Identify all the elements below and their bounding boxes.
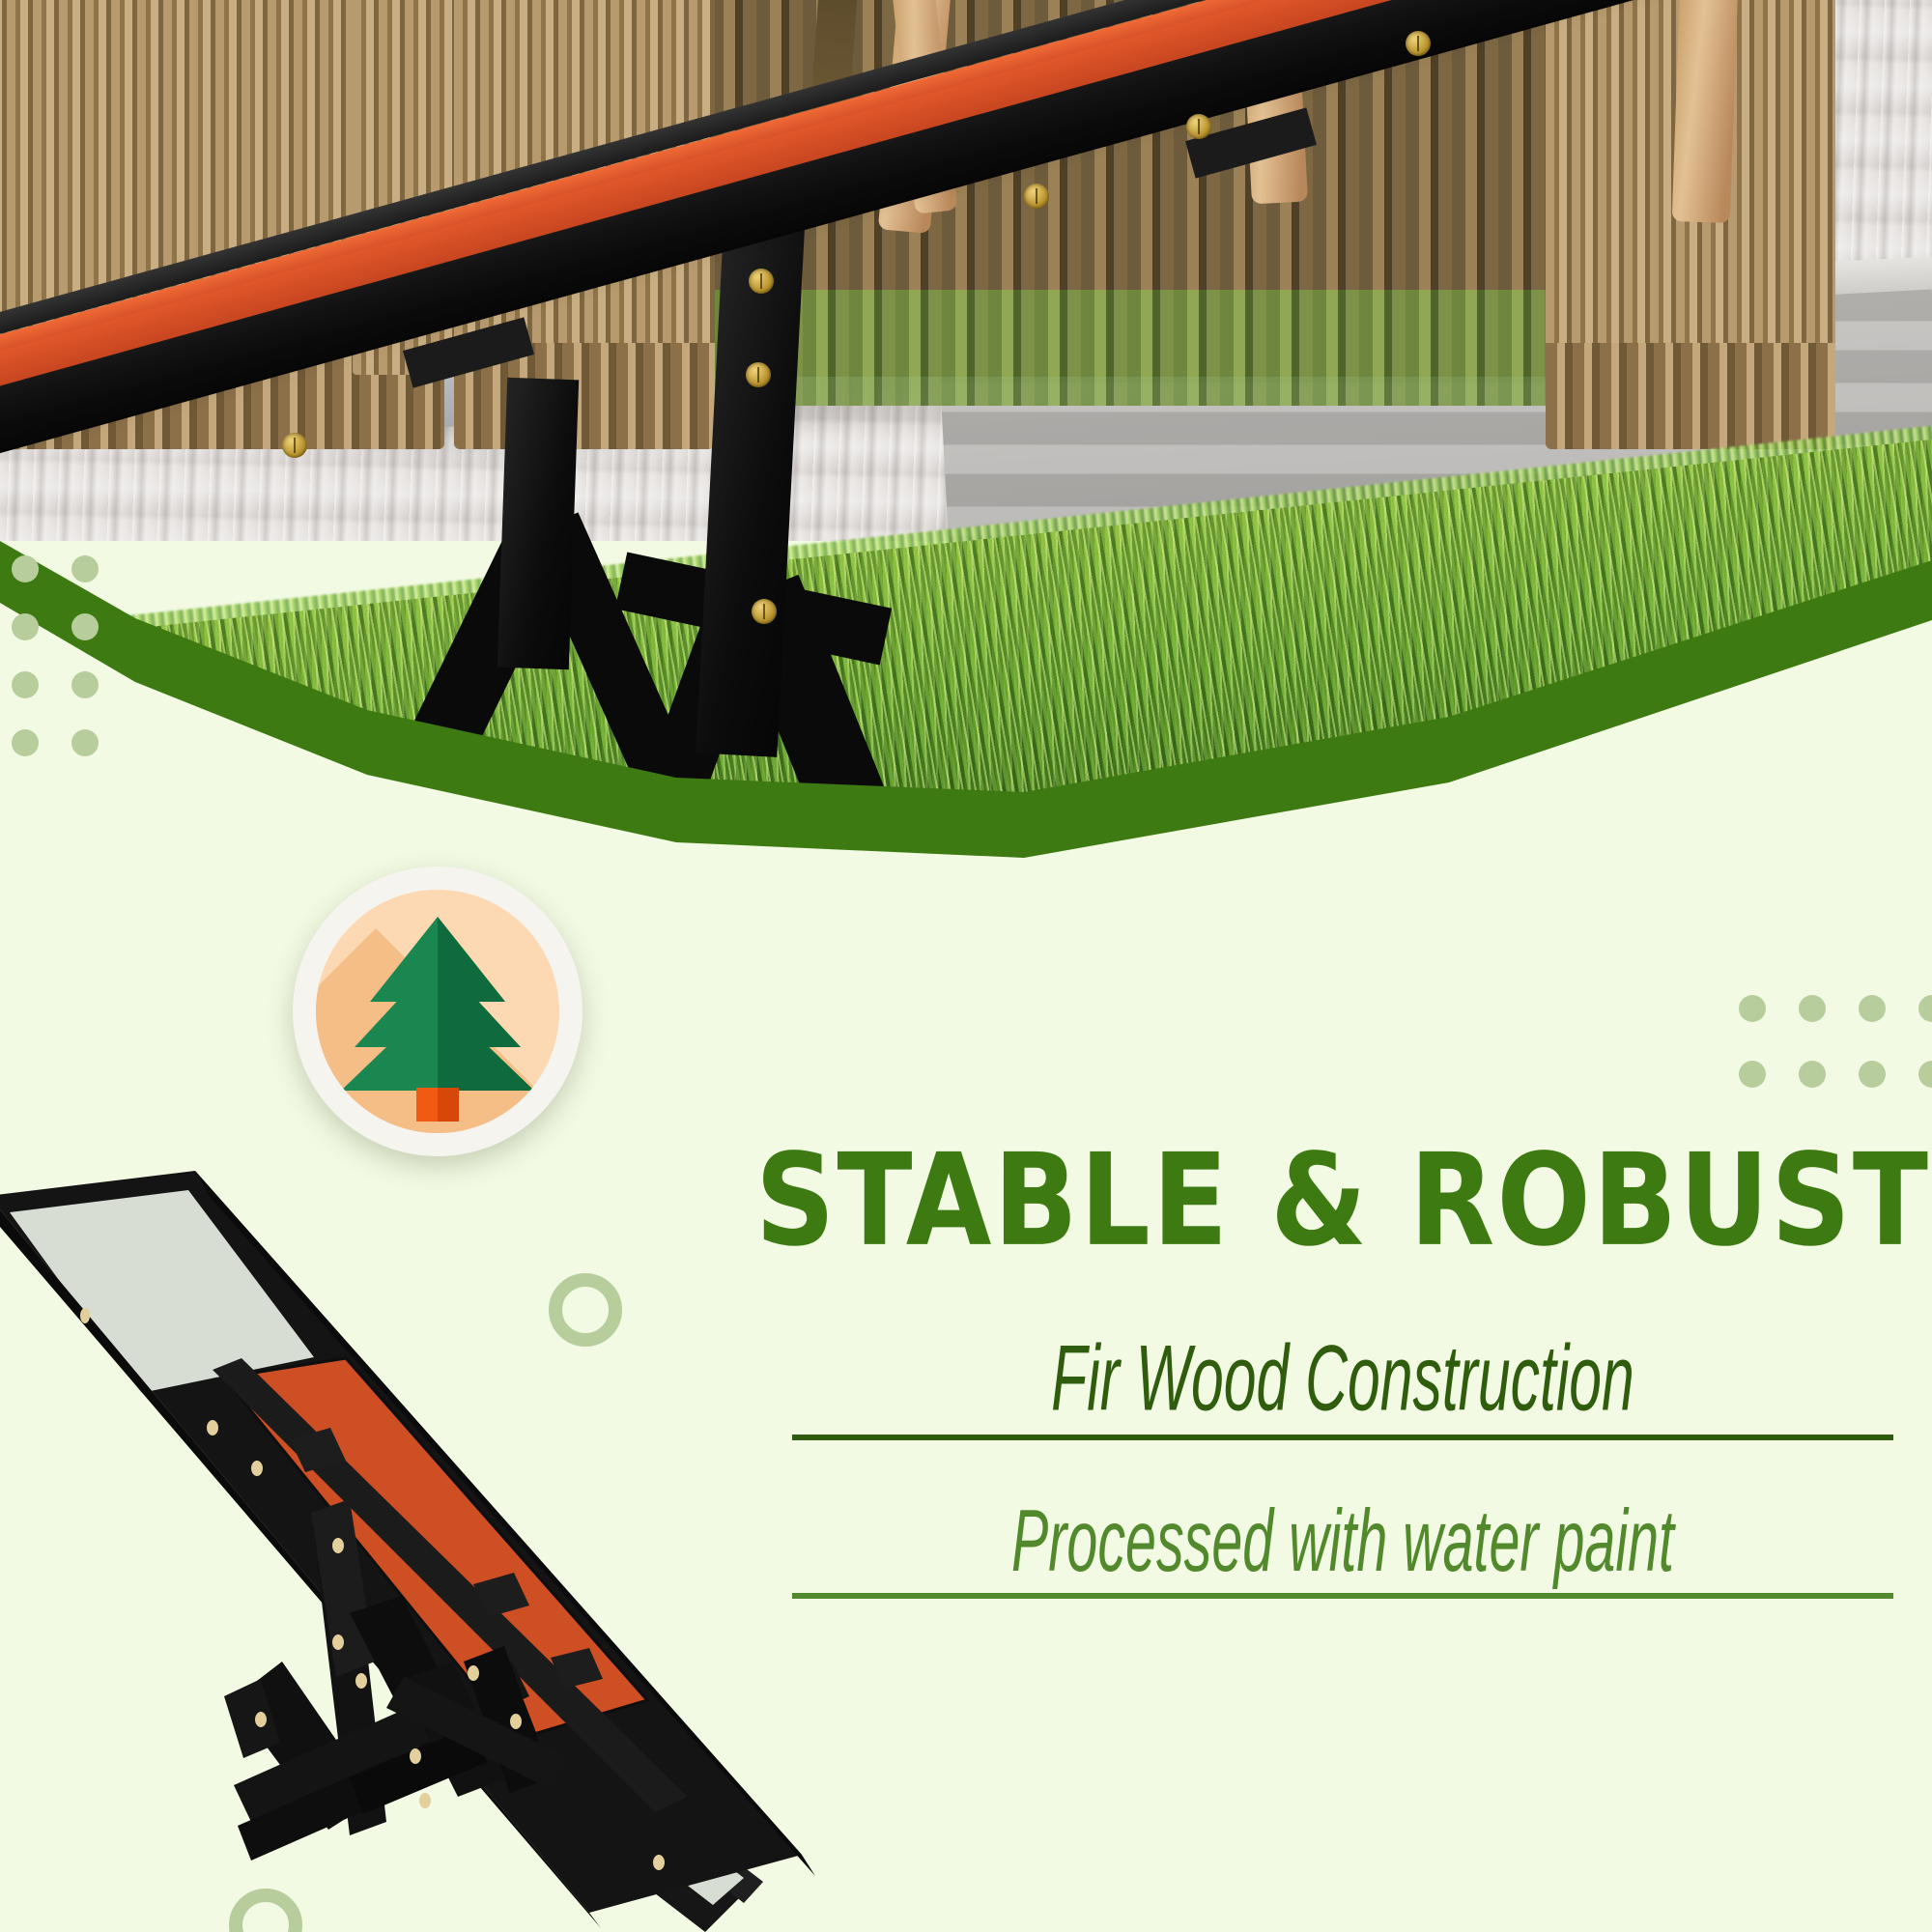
screw-head bbox=[746, 362, 771, 387]
screw-head bbox=[1024, 184, 1049, 209]
dot-grid-left bbox=[12, 555, 131, 787]
feature-line-2-underline bbox=[792, 1593, 1893, 1599]
dot bbox=[12, 555, 39, 582]
feature-line-2: Processed with water paint bbox=[875, 1491, 1810, 1591]
dot bbox=[71, 729, 99, 756]
screw-head bbox=[1186, 114, 1211, 139]
table-leg-4 bbox=[1672, 0, 1739, 223]
screw-head bbox=[752, 599, 777, 624]
dot bbox=[1799, 995, 1826, 1022]
dot bbox=[12, 671, 39, 698]
dot bbox=[1918, 995, 1932, 1022]
dot-grid-right bbox=[1739, 995, 1932, 1126]
copy-block: STABLE & ROBUST Fir Wood Construction Pr… bbox=[773, 1150, 1913, 1599]
dot bbox=[71, 671, 99, 698]
product-seesaw-isolated bbox=[0, 1159, 840, 1932]
feature-line-1: Fir Wood Construction bbox=[875, 1324, 1810, 1432]
wood-slat-screen-foliage bbox=[710, 290, 1560, 406]
dot bbox=[12, 729, 39, 756]
dot bbox=[1859, 995, 1886, 1022]
dot bbox=[1739, 1061, 1766, 1088]
feature-line-1-underline bbox=[792, 1435, 1893, 1440]
dot bbox=[12, 613, 39, 640]
fir-wood-badge-disc bbox=[316, 890, 559, 1133]
screw-head bbox=[1406, 31, 1431, 56]
dot bbox=[1799, 1061, 1826, 1088]
hero-photo bbox=[0, 0, 1932, 927]
marketing-banner: STABLE & ROBUST Fir Wood Construction Pr… bbox=[0, 0, 1932, 1932]
product-seesaw-svg bbox=[0, 1159, 840, 1932]
dot bbox=[71, 613, 99, 640]
fir-tree-icon bbox=[316, 890, 559, 1133]
pivot-post-left bbox=[497, 378, 579, 669]
page-title: STABLE & ROBUST bbox=[739, 1138, 1932, 1265]
dot bbox=[1918, 1061, 1932, 1088]
screw-head bbox=[282, 433, 307, 458]
dot bbox=[1739, 995, 1766, 1022]
dot bbox=[1859, 1061, 1886, 1088]
fir-wood-badge bbox=[293, 867, 582, 1156]
wicker-chair-right-skirt bbox=[1546, 343, 1835, 449]
dot bbox=[71, 555, 99, 582]
screw-head bbox=[749, 269, 774, 294]
